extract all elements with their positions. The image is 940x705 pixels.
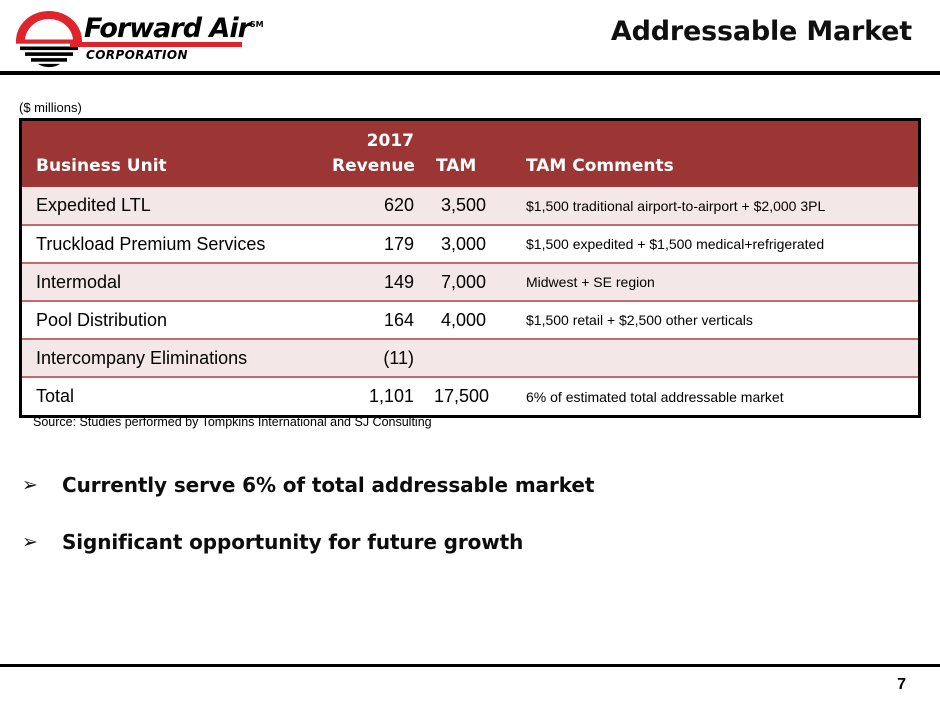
- footer-divider: [0, 664, 940, 667]
- forward-air-logo-mark: [10, 8, 88, 68]
- table-row: Total 1,101 17,500 6% of estimated total…: [22, 377, 918, 415]
- arrow-bullet-icon: ➢: [22, 472, 62, 498]
- wordmark-main-text: Forward AirSM: [84, 10, 264, 44]
- cell-tam: 4,000: [424, 301, 516, 339]
- table-header-row: Business Unit 2017 Revenue TAM TAM Comme…: [22, 121, 918, 187]
- cell-business-unit: Intercompany Eliminations: [22, 339, 322, 377]
- cell-tam: 7,000: [424, 263, 516, 301]
- column-header-business-unit: Business Unit: [22, 121, 322, 187]
- slide-header: Forward AirSM CORPORATION Addressable Ma…: [0, 0, 940, 75]
- cell-comment: $1,500 expedited + $1,500 medical+refrig…: [516, 225, 918, 263]
- cell-revenue: 164: [322, 301, 424, 339]
- table-row: Expedited LTL 620 3,500 $1,500 tradition…: [22, 187, 918, 225]
- list-item: ➢ Currently serve 6% of total addressabl…: [22, 472, 902, 498]
- cell-business-unit: Expedited LTL: [22, 187, 322, 225]
- cell-comment: $1,500 traditional airport-to-airport + …: [516, 187, 918, 225]
- cell-revenue: 149: [322, 263, 424, 301]
- bullet-list: ➢ Currently serve 6% of total addressabl…: [22, 472, 902, 586]
- table-body: Expedited LTL 620 3,500 $1,500 tradition…: [22, 187, 918, 415]
- table-row: Intermodal 149 7,000 Midwest + SE region: [22, 263, 918, 301]
- wordmark-sm-mark: SM: [250, 20, 264, 29]
- cell-tam: [424, 339, 516, 377]
- forward-air-logo: Forward AirSM CORPORATION: [8, 6, 258, 68]
- column-header-revenue: 2017 Revenue: [322, 121, 424, 187]
- arrow-bullet-icon: ➢: [22, 529, 62, 555]
- page-number: 7: [897, 676, 906, 694]
- cell-comment: 6% of estimated total addressable market: [516, 377, 918, 415]
- table-row: Intercompany Eliminations (11): [22, 339, 918, 377]
- cell-comment: [516, 339, 918, 377]
- addressable-market-table: Business Unit 2017 Revenue TAM TAM Comme…: [19, 118, 921, 418]
- cell-comment: Midwest + SE region: [516, 263, 918, 301]
- table-row: Pool Distribution 164 4,000 $1,500 retai…: [22, 301, 918, 339]
- wordmark-sub-text: CORPORATION: [86, 48, 188, 62]
- cell-business-unit: Truckload Premium Services: [22, 225, 322, 263]
- tam-table-element: Business Unit 2017 Revenue TAM TAM Comme…: [22, 121, 918, 415]
- column-header-revenue-label: Revenue: [332, 156, 415, 176]
- cell-revenue: 179: [322, 225, 424, 263]
- forward-air-wordmark: Forward AirSM CORPORATION: [84, 10, 259, 66]
- wordmark-name: Forward Air: [84, 13, 250, 44]
- bullet-text: Significant opportunity for future growt…: [62, 529, 523, 555]
- column-header-tam: TAM: [424, 121, 516, 187]
- page-title: Addressable Market: [611, 16, 912, 47]
- cell-tam: 3,500: [424, 187, 516, 225]
- cell-tam: 3,000: [424, 225, 516, 263]
- column-header-revenue-year: 2017: [332, 129, 414, 154]
- units-note: ($ millions): [19, 100, 82, 115]
- column-header-tam-label: TAM: [436, 156, 476, 176]
- cell-business-unit: Pool Distribution: [22, 301, 322, 339]
- column-header-tam-comments-label: TAM Comments: [526, 156, 674, 176]
- list-item: ➢ Significant opportunity for future gro…: [22, 529, 902, 555]
- source-note: Source: Studies performed by Tompkins In…: [33, 415, 432, 429]
- cell-comment: $1,500 retail + $2,500 other verticals: [516, 301, 918, 339]
- column-header-business-unit-label: Business Unit: [36, 156, 167, 176]
- table-head: Business Unit 2017 Revenue TAM TAM Comme…: [22, 121, 918, 187]
- column-header-tam-comments: TAM Comments: [516, 121, 918, 187]
- cell-revenue: (11): [322, 339, 424, 377]
- bullet-text: Currently serve 6% of total addressable …: [62, 472, 594, 498]
- cell-business-unit: Intermodal: [22, 263, 322, 301]
- header-divider: [0, 71, 940, 75]
- cell-revenue: 1,101: [322, 377, 424, 415]
- cell-business-unit: Total: [22, 377, 322, 415]
- table-row: Truckload Premium Services 179 3,000 $1,…: [22, 225, 918, 263]
- cell-revenue: 620: [322, 187, 424, 225]
- cell-tam: 17,500: [424, 377, 516, 415]
